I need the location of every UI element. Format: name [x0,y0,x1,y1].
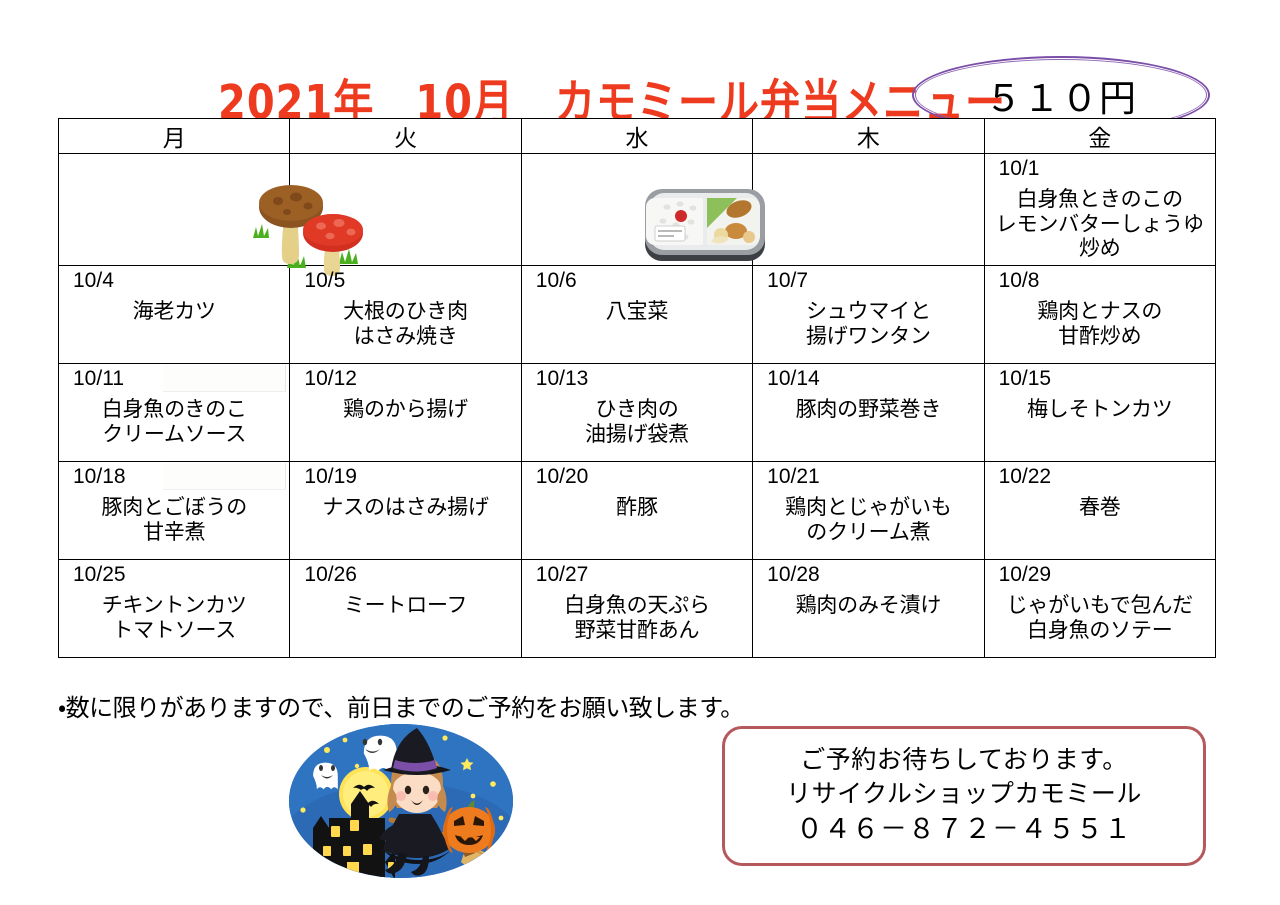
cell-date: 10/19 [290,465,520,489]
calendar-cell-10-1: 10/1 白身魚ときのこの レモンバターしょうゆ 炒め [984,154,1215,266]
cell-date: 10/14 [753,367,983,391]
cell-date: 10/8 [985,269,1215,293]
cell-dish: 鶏肉のみそ漬け [753,587,983,618]
cell-dish: 白身魚の天ぷら 野菜甘酢あん [522,587,752,643]
table-row: 10/25 チキントンカツ トマトソース 10/26 ミートローフ 10/27 … [59,560,1216,658]
cell-date: 10/26 [290,563,520,587]
calendar-cell-10-8: 10/8 鶏肉とナスの 甘酢炒め [984,266,1215,364]
cell-date: 10/18 [59,465,289,489]
calendar-cell-10-18: 10/18 豚肉とごぼうの 甘辛煮 [59,462,290,560]
cell-dish: ミートローフ [290,587,520,618]
calendar-cell-10-26: 10/26 ミートローフ [290,560,521,658]
cell-dish: 豚肉の野菜巻き [753,391,983,422]
calendar-cell-10-19: 10/19 ナスのはさみ揚げ [290,462,521,560]
calendar-cell-10-12: 10/12 鶏のから揚げ [290,364,521,462]
calendar-cell-10-11: 10/11 白身魚のきのこ クリームソース [59,364,290,462]
calendar-cell-10-28: 10/28 鶏肉のみそ漬け [753,560,984,658]
cell-dish: 白身魚のきのこ クリームソース [59,391,289,447]
calendar-cell-empty-wed [521,154,752,266]
calendar-cell-10-25: 10/25 チキントンカツ トマトソース [59,560,290,658]
calendar-cell-10-29: 10/29 じゃがいもで包んだ 白身魚のソテー [984,560,1215,658]
cell-date: 10/21 [753,465,983,489]
calendar-cell-10-13: 10/13 ひき肉の 油揚げ袋煮 [521,364,752,462]
cell-date: 10/27 [522,563,752,587]
availability-note: ・数に限りがありますので、前日までのご予約をお願い致します。 [58,688,744,723]
table-row: 10/4 海老カツ 10/5 大根のひき肉 はさみ焼き 10/6 八宝菜 10/… [59,266,1216,364]
calendar-cell-empty-thu [753,154,984,266]
cell-date: 10/5 [290,269,520,293]
table-row: 10/11 白身魚のきのこ クリームソース 10/12 鶏のから揚げ 10/13… [59,364,1216,462]
cell-dish: 八宝菜 [522,293,752,324]
cell-date: 10/20 [522,465,752,489]
cell-dish: 白身魚ときのこの レモンバターしょうゆ 炒め [985,181,1215,261]
table-row: 10/1 白身魚ときのこの レモンバターしょうゆ 炒め [59,154,1216,266]
column-header-tuesday: 火 [290,119,521,154]
cell-date: 10/25 [59,563,289,587]
calendar-cell-10-14: 10/14 豚肉の野菜巻き [753,364,984,462]
reservation-line-1: ご予約お待ちしております。 [800,744,1128,778]
column-header-friday: 金 [984,119,1215,154]
calendar-cell-10-7: 10/7 シュウマイと 揚げワンタン [753,266,984,364]
cell-dish: 鶏肉とじゃがいも のクリーム煮 [753,489,983,545]
calendar-cell-10-20: 10/20 酢豚 [521,462,752,560]
cell-dish: じゃがいもで包んだ 白身魚のソテー [985,587,1215,643]
cell-date: 10/11 [59,367,289,391]
cell-dish: 鶏肉とナスの 甘酢炒め [985,293,1215,349]
table-row: 10/18 豚肉とごぼうの 甘辛煮 10/19 ナスのはさみ揚げ 10/20 酢… [59,462,1216,560]
column-header-wednesday: 水 [521,119,752,154]
calendar-cell-10-4: 10/4 海老カツ [59,266,290,364]
cell-date: 10/13 [522,367,752,391]
halloween-witch-icon [287,722,515,880]
cell-date: 10/7 [753,269,983,293]
cell-date: 10/6 [522,269,752,293]
reservation-shop-name: リサイクルショップカモミール [786,778,1142,812]
table-header-row: 月 火 水 木 金 [59,119,1216,154]
cell-date: 10/15 [985,367,1215,391]
cell-date: 10/12 [290,367,520,391]
calendar-cell-10-22: 10/22 春巻 [984,462,1215,560]
cell-date: 10/28 [753,563,983,587]
cell-dish: 鶏のから揚げ [290,391,520,422]
calendar-cell-10-21: 10/21 鶏肉とじゃがいも のクリーム煮 [753,462,984,560]
cell-dish: 海老カツ [59,293,289,324]
reservation-info-box: ご予約お待ちしております。 リサイクルショップカモミール ０４６－８７２－４５５… [722,726,1206,866]
column-header-thursday: 木 [753,119,984,154]
cell-date: 10/29 [985,563,1215,587]
cell-dish: 酢豚 [522,489,752,520]
cell-dish: ナスのはさみ揚げ [290,489,520,520]
calendar-cell-10-5: 10/5 大根のひき肉 はさみ焼き [290,266,521,364]
calendar-cell-empty-tue [290,154,521,266]
cell-dish: 豚肉とごぼうの 甘辛煮 [59,489,289,545]
calendar-cell-10-27: 10/27 白身魚の天ぷら 野菜甘酢あん [521,560,752,658]
cell-dish: 春巻 [985,489,1215,520]
calendar-cell-empty-mon [59,154,290,266]
cell-date: 10/1 [985,157,1215,181]
calendar-cell-10-15: 10/15 梅しそトンカツ [984,364,1215,462]
cell-dish: 梅しそトンカツ [985,391,1215,422]
column-header-monday: 月 [59,119,290,154]
title-row: 2021年 10月 カモミール弁当メニュー ５１０円 [0,28,1280,98]
cell-dish: チキントンカツ トマトソース [59,587,289,643]
reservation-phone-number: ０４６－８７２－４５５１ [796,811,1132,847]
cell-dish: ひき肉の 油揚げ袋煮 [522,391,752,447]
cell-date: 10/4 [59,269,289,293]
cell-date: 10/22 [985,465,1215,489]
menu-calendar-table: 月 火 水 木 金 [58,118,1216,658]
calendar-cell-10-6: 10/6 八宝菜 [521,266,752,364]
cell-dish: シュウマイと 揚げワンタン [753,293,983,349]
cell-dish: 大根のひき肉 はさみ焼き [290,293,520,349]
